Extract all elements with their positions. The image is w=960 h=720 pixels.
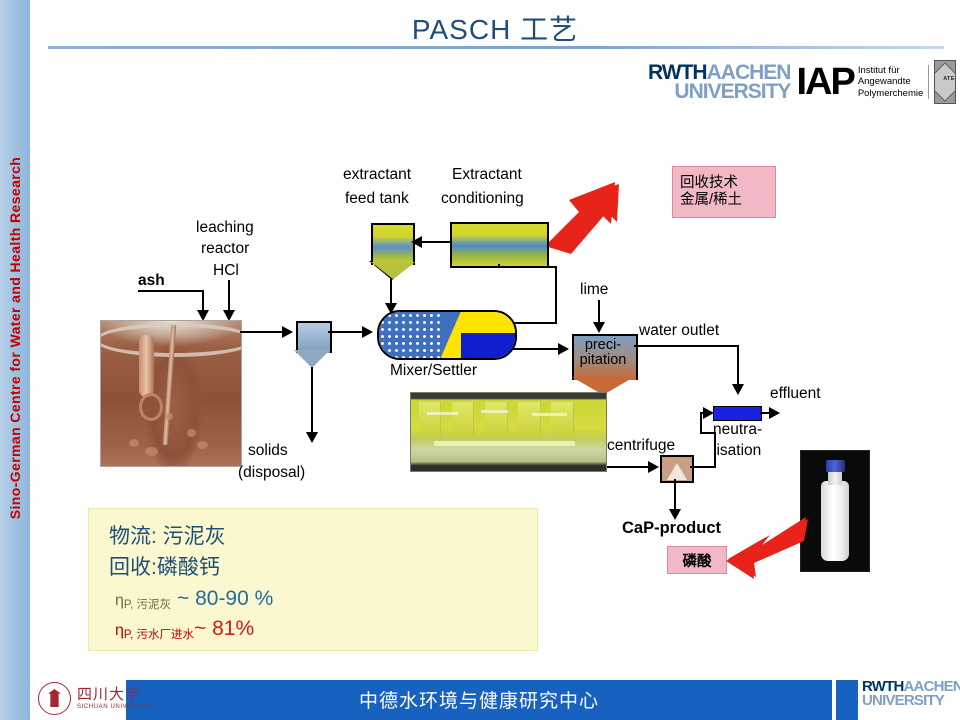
- separator-cone: [294, 350, 330, 368]
- callout-recovery-technology-text: 回收技术 金属/稀土: [673, 175, 742, 208]
- reactor-stirrer-ring: [139, 393, 163, 421]
- legend-eta-value-2: ~ 81%: [194, 617, 254, 640]
- slurry-bubble: [129, 439, 139, 447]
- footer-bar-cap: [836, 680, 858, 720]
- label-precipitation: preci- pitation: [572, 338, 634, 368]
- legend-eta-symbol-2: η: [115, 622, 124, 639]
- extractant-conditioning-vessel: [450, 222, 549, 268]
- atemis-label: ATEMIS: [935, 76, 956, 82]
- atemis-logo-icon: ATEMIS: [934, 60, 956, 104]
- extractant-feed-tank-vessel: [371, 223, 415, 265]
- slurry-bubble: [197, 441, 208, 449]
- legend-eta-symbol-1: η: [115, 592, 124, 609]
- label-extractant-feed-tank-line1: extractant: [343, 166, 411, 183]
- label-extractant-conditioning-line1: Extractant: [452, 166, 522, 183]
- slurry-bubble: [165, 413, 173, 420]
- rwth-wordmark: RWTHAACHEN UNIVERSITY: [648, 63, 790, 102]
- label-solids-line2: (disposal): [238, 464, 305, 481]
- neutralisation-unit: [713, 406, 762, 421]
- label-precipitation-line2: pitation: [572, 353, 634, 368]
- label-hcl: HCl: [213, 262, 239, 279]
- callout-phosphoric-acid: 磷酸: [667, 546, 727, 574]
- centrifuge-unit: [660, 455, 694, 483]
- bottle-cap: [826, 460, 845, 472]
- settler-organic-phase: [453, 312, 515, 333]
- institute-subtitle: Institut für Angewandte Polymerchemie: [858, 65, 929, 100]
- atemis-diamond-shape: [934, 62, 956, 102]
- liquid-surface-line: [434, 441, 574, 446]
- arrowhead-conditioning-to-feedtank: [411, 236, 422, 248]
- sichuan-university-cn: 四川大学: [77, 687, 152, 702]
- settler-aqueous-phase: [453, 333, 515, 358]
- red-arrow-to-extractant-conditioning: [545, 172, 675, 254]
- centrifuge-icon: [667, 463, 687, 480]
- arrowhead-filter-to-mixer: [362, 326, 373, 338]
- liquid-highlight: [532, 413, 567, 416]
- left-sidebar-band: Sino-German Centre for Water and Health …: [0, 0, 30, 720]
- photo-leaching-reactor-slurry: [100, 320, 242, 467]
- label-centrifuge: centrifuge: [607, 437, 675, 454]
- rwth-iap-logo: RWTHAACHEN UNIVERSITY IAP Institut für A…: [648, 58, 956, 106]
- label-leaching-reactor-line2: reactor: [201, 240, 249, 257]
- mixer-settler-interface: [441, 312, 461, 358]
- footer-center-title: 中德水环境与健康研究中心: [126, 686, 832, 713]
- pipe-mixer-aqueous-out: [513, 348, 561, 350]
- pipe-centrifuge-to-product: [674, 479, 676, 512]
- iap-wordmark: IAP: [796, 63, 853, 101]
- label-ash: ash: [138, 272, 165, 289]
- footer-university-text: UNIVERSITY: [862, 694, 944, 708]
- title-divider: [48, 46, 944, 49]
- pipe-reactor-to-filter: [240, 331, 284, 333]
- photo-mixer-settler-pilot-plant: [410, 392, 607, 472]
- slurry-bubble: [187, 429, 196, 437]
- sichuan-university-en: SICHUAN UNIVERSITY: [77, 704, 152, 710]
- label-lime: lime: [580, 281, 608, 298]
- settler-compartment: [419, 402, 441, 435]
- legend-line-material-flow: 物流: 污泥灰: [109, 520, 226, 550]
- slide-title: PASCH 工艺: [30, 8, 960, 48]
- pipe-organic-elbow: [498, 264, 500, 268]
- institute-line-1: Institut für: [858, 65, 923, 77]
- settler-compartment: [551, 402, 573, 435]
- arrowhead-reactor-to-filter: [282, 326, 293, 338]
- pipe-ash-vertical: [202, 290, 204, 312]
- arrowhead-to-centrifuge: [648, 461, 659, 473]
- pipe-water-outlet-down: [737, 345, 739, 387]
- arrowhead-effluent: [769, 407, 780, 419]
- liquid-highlight: [427, 412, 458, 415]
- reactor-stirrer: [139, 335, 154, 397]
- pipe-ash-horizontal: [138, 290, 204, 292]
- liquid-highlight: [481, 410, 508, 413]
- label-mixer-settler: Mixer/Settler: [390, 362, 477, 379]
- red-arrow-to-phosphoric-acid: [726, 517, 808, 579]
- pipe-slurry-to-centrifuge: [602, 466, 652, 468]
- settler-compartment: [452, 402, 474, 435]
- label-extractant-feed-tank-line2: feed tank: [345, 190, 409, 207]
- sidebar-title: Sino-German Centre for Water and Health …: [7, 8, 23, 668]
- pipe-filter-to-mixer: [328, 331, 364, 333]
- label-cap-product: CaP-product: [622, 519, 721, 537]
- settler-compartment: [485, 402, 507, 435]
- legend-efficiency-influent: ηP, 污水厂进水~ 81%: [115, 617, 254, 642]
- rwth-text-university: UNIVERSITY: [674, 82, 790, 101]
- pipe-mixer-organic-out: [513, 322, 557, 324]
- bottle-body: [821, 481, 849, 561]
- legend-eta-subscript-2: P, 污水厂进水: [124, 629, 194, 641]
- legend-efficiency-ash: ηP, 污泥灰~ 80-90 %: [115, 587, 273, 612]
- feed-tank-cone: [371, 262, 415, 279]
- pipe-return-riser: [700, 412, 702, 434]
- arrowhead-to-precipitation: [558, 343, 569, 355]
- solid-liquid-separator: [296, 321, 332, 353]
- label-precipitation-line1: preci-: [572, 338, 634, 353]
- arrowhead-water-outlet-to-neutralisation: [732, 384, 744, 395]
- label-effluent: effluent: [770, 385, 821, 402]
- sichuan-university-seal-icon: [38, 682, 71, 715]
- settler-compartment: [518, 402, 540, 435]
- pipe-water-outlet: [634, 345, 739, 347]
- sichuan-university-logo: 四川大学 SICHUAN UNIVERSITY: [38, 678, 158, 718]
- mixer-settler-vessel: [377, 310, 517, 360]
- label-water-outlet: water outlet: [639, 322, 719, 339]
- legend-line-recovery: 回收:磷酸钙: [109, 551, 220, 581]
- pipe-hcl-vertical: [228, 280, 230, 312]
- pipe-separator-to-solids: [311, 367, 313, 435]
- arrowhead-solids-disposal: [306, 432, 318, 443]
- footer-rwth-logo: RWTHAACHEN UNIVERSITY: [862, 680, 960, 709]
- photo-phosphoric-acid-bottle: [800, 450, 870, 572]
- pipe-lime-feed: [598, 300, 600, 324]
- pipe-organic-riser: [555, 266, 557, 324]
- pipe-centrifuge-liquid-out: [690, 466, 716, 468]
- pipe-conditioning-to-feedtank: [422, 241, 452, 243]
- arrowhead-lime-into-precipitation: [593, 322, 605, 333]
- legend-eta-value-1: ~ 80-90 %: [177, 587, 273, 610]
- label-leaching-reactor-line1: leaching: [196, 219, 254, 236]
- label-neutralisation-line1: neutra-: [713, 421, 762, 438]
- sichuan-university-wordmark: 四川大学 SICHUAN UNIVERSITY: [77, 687, 152, 710]
- institute-line-2: Angewandte: [858, 76, 923, 88]
- label-neutralisation-line2: lisation: [713, 442, 761, 459]
- callout-phosphoric-acid-text: 磷酸: [683, 550, 712, 571]
- slurry-bubble: [145, 447, 158, 456]
- label-solids-line1: solids: [248, 442, 288, 459]
- label-extractant-conditioning-line2: conditioning: [441, 190, 524, 207]
- legend-eta-subscript-1: P, 污泥灰: [124, 599, 171, 611]
- legend-box: 物流: 污泥灰 回收:磷酸钙 ηP, 污泥灰~ 80-90 % ηP, 污水厂进…: [88, 508, 538, 651]
- callout-recovery-technology: 回收技术 金属/稀土: [672, 166, 776, 218]
- institute-line-3: Polymerchemie: [858, 88, 923, 100]
- pipe-organic-to-conditioning: [498, 266, 557, 268]
